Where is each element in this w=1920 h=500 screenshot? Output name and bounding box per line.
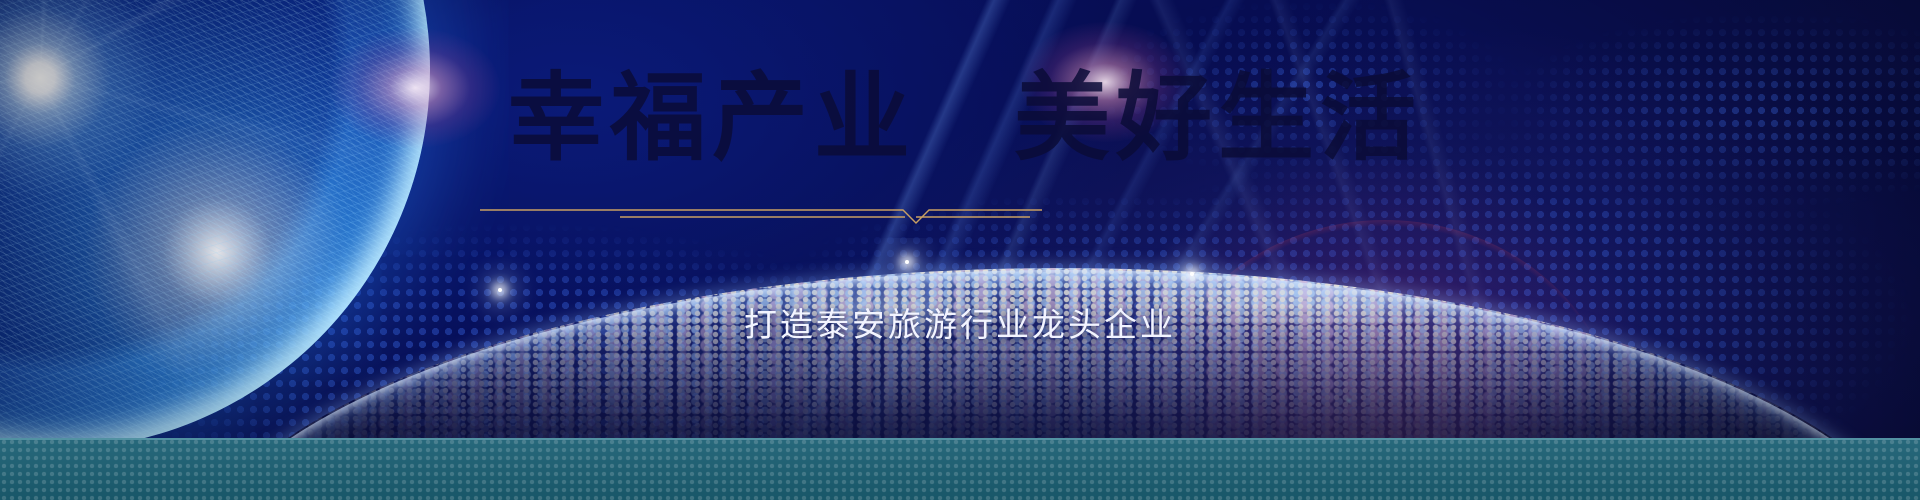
city-light-beam xyxy=(905,260,909,264)
promo-banner: 幸福产业 美好生活 幸福产业 美好生活 打造泰安旅游行业龙头企业 xyxy=(0,0,1920,500)
teal-bar-top-edge xyxy=(0,438,1920,440)
divider-svg xyxy=(470,198,1050,232)
gold-divider-line xyxy=(470,198,1050,232)
city-light-beam xyxy=(1190,272,1194,276)
city-horizon-streak xyxy=(180,270,1920,438)
page-title: 幸福产业 美好生活 xyxy=(0,62,1920,163)
bottom-teal-bar xyxy=(0,438,1920,500)
city-light-beam xyxy=(498,288,502,292)
page-subtitle: 打造泰安旅游行业龙头企业 xyxy=(0,298,1920,346)
